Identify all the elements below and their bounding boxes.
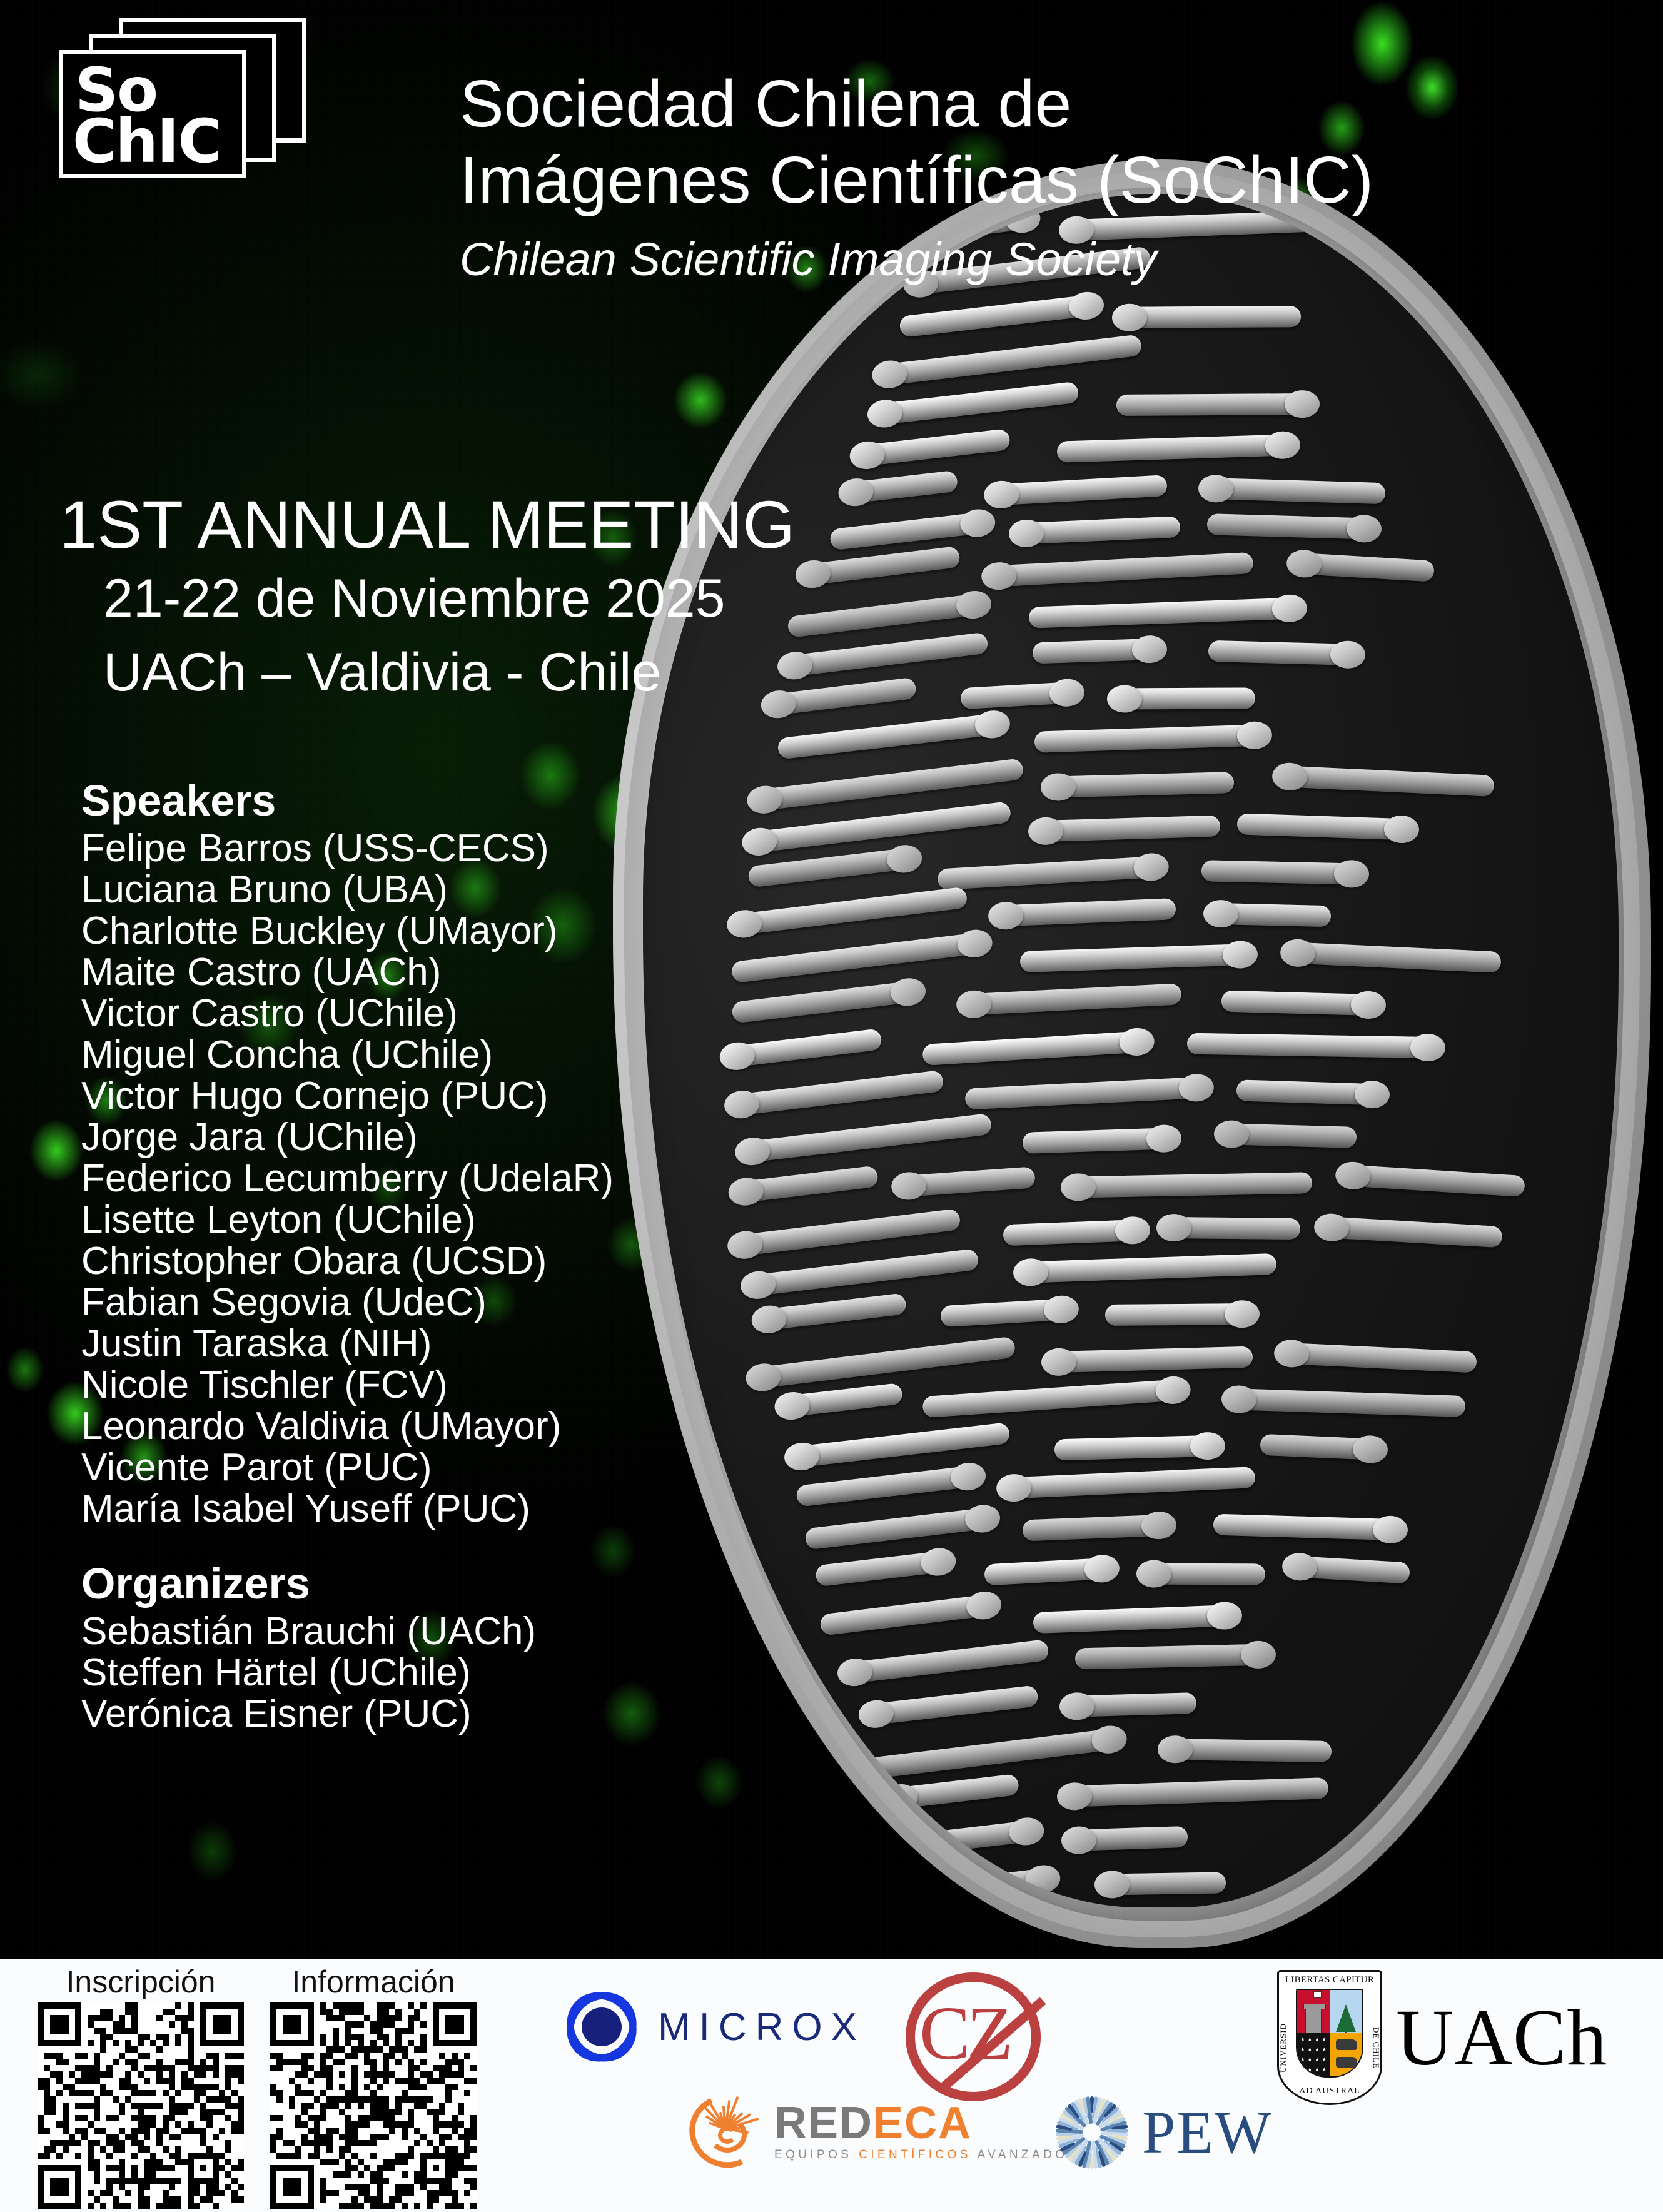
crista-segment bbox=[866, 1728, 1121, 1780]
crista-segment bbox=[1063, 1777, 1328, 1807]
crista-segment bbox=[855, 428, 1011, 467]
crista-segment bbox=[1228, 1388, 1465, 1417]
crista-segment bbox=[804, 1507, 995, 1550]
speaker-item: Federico Lecumberry (UdelaR) bbox=[81, 1158, 707, 1199]
logo-word-chic: ChIC bbox=[73, 111, 221, 171]
organizer-item: Steffen Härtel (UChile) bbox=[81, 1652, 707, 1694]
crest-name-right: DE CHILE bbox=[1370, 2010, 1381, 2085]
crista-segment bbox=[1213, 1513, 1402, 1540]
speaker-item: Charlotte Buckley (UMayor) bbox=[81, 911, 707, 952]
redeca-tag-equipos: EQUIPOS bbox=[774, 2148, 852, 2161]
meeting-info: 1ST ANNUAL MEETING 21-22 de Noviembre 20… bbox=[59, 488, 872, 709]
speaker-item: Jorge Jara (UChile) bbox=[81, 1117, 707, 1158]
crista-segment bbox=[1074, 1644, 1269, 1669]
redeca-tagline: EQUIPOS CIENTÍFICOS AVANZADOS bbox=[774, 2148, 1079, 2163]
society-subtitle: Chilean Scientific Imaging Society bbox=[460, 227, 1635, 292]
crista-segment bbox=[1201, 860, 1363, 885]
qr-inscripcion-image[interactable] bbox=[38, 2002, 244, 2209]
meeting-title: 1ST ANNUAL MEETING bbox=[59, 488, 872, 562]
crista-segment bbox=[962, 983, 1182, 1016]
crest-name-bottom: AD AUSTRAL bbox=[1277, 2086, 1382, 2096]
sponsor-logos: MICROX CZ REDECA EQUIPOS bbox=[550, 1959, 1657, 2212]
society-title-line-2: Imágenes Científicas (SoChIC) bbox=[460, 142, 1635, 218]
crista-segment bbox=[796, 1465, 981, 1508]
speaker-item: Christopher Obara (UCSD) bbox=[81, 1241, 707, 1282]
crista-segment bbox=[1034, 816, 1221, 842]
crista-segment bbox=[1054, 1435, 1219, 1460]
crista-segment bbox=[1320, 1216, 1504, 1248]
speaker-item: Luciana Bruno (UBA) bbox=[81, 869, 707, 911]
crista-segment bbox=[731, 980, 921, 1023]
crista-segment bbox=[732, 886, 968, 936]
poster-root: So ChIC Sociedad Chilena de Imágenes Cie… bbox=[0, 0, 1663, 2212]
crest-quadrant-stars: ★★★★★★★★★★★★★★★★ bbox=[1297, 2033, 1330, 2076]
microx-wordmark: MICROX bbox=[658, 2005, 866, 2049]
crista-segment bbox=[987, 552, 1253, 587]
sponsor-logo-pew[interactable]: PEW bbox=[1051, 2091, 1273, 2174]
crista-segment bbox=[1278, 765, 1494, 797]
crista-segment bbox=[1288, 1556, 1410, 1584]
speaker-item: Lisette Leyton (UChile) bbox=[81, 1199, 707, 1241]
sponsor-logo-microx[interactable]: MICROX bbox=[562, 1989, 866, 2065]
crista-segment bbox=[1187, 1033, 1440, 1058]
society-title-line-1: Sociedad Chilena de bbox=[460, 66, 1635, 142]
crista-segment bbox=[1067, 1173, 1313, 1198]
crista-segment bbox=[777, 712, 1006, 759]
crista-segment bbox=[752, 758, 1024, 811]
crista-segment bbox=[877, 335, 1143, 386]
crista-segment bbox=[730, 1070, 945, 1116]
qr-code-group: InscripciónInformación bbox=[38, 1964, 477, 2209]
crista-segment bbox=[1280, 1343, 1477, 1373]
poster-header: Sociedad Chilena de Imágenes Científicas… bbox=[460, 66, 1635, 292]
poster-footer: InscripciónInformación MICROX CZ bbox=[0, 1959, 1663, 2212]
crista-segment bbox=[1003, 1467, 1256, 1499]
crista-segment bbox=[1116, 393, 1313, 416]
crista-segment bbox=[922, 1379, 1185, 1418]
crista-segment bbox=[740, 1113, 992, 1163]
speaker-item: Fabian Segovia (UdeC) bbox=[81, 1282, 707, 1323]
redeca-word-red: RED bbox=[774, 2098, 873, 2148]
speaker-item: Nicole Tischler (FCV) bbox=[81, 1365, 707, 1406]
crista-segment bbox=[1341, 1164, 1525, 1196]
speaker-item: María Isabel Yuseff (PUC) bbox=[81, 1488, 707, 1530]
speaker-item: Felipe Barros (USS-CECS) bbox=[81, 828, 707, 869]
crest-quadrant-tree bbox=[1330, 1990, 1362, 2033]
crest-quadrant-castle bbox=[1297, 1990, 1330, 2033]
em-structure-image bbox=[613, 159, 1663, 1967]
crista-segment bbox=[1210, 903, 1332, 927]
crista-segment bbox=[1236, 1080, 1384, 1106]
speaker-item: Maite Castro (UACh) bbox=[81, 952, 707, 993]
crista-segment bbox=[1221, 990, 1380, 1016]
sunburst-icon bbox=[1051, 2091, 1133, 2174]
qr-informacion-label: Información bbox=[270, 1964, 477, 2000]
crista-segment bbox=[1032, 638, 1161, 664]
qr-inscripcion[interactable]: Inscripción bbox=[38, 1964, 244, 2209]
crista-segment bbox=[1143, 1563, 1265, 1585]
crista-segment bbox=[790, 1422, 1011, 1468]
crista-segment bbox=[989, 475, 1167, 507]
crista-segment bbox=[746, 1248, 979, 1297]
crista-segment bbox=[1047, 772, 1235, 798]
crista-segment bbox=[1068, 1826, 1188, 1851]
crista-segment bbox=[1020, 944, 1252, 972]
meeting-dates: 21-22 de Noviembre 2025 bbox=[59, 562, 872, 635]
organizer-item: Sebastián Brauchi (UACh) bbox=[81, 1611, 707, 1652]
crest-quadrant-bulls bbox=[1330, 2033, 1362, 2076]
crista-segment bbox=[780, 1383, 903, 1418]
crista-segment bbox=[1260, 1433, 1382, 1460]
shell-spiral-icon bbox=[689, 2095, 764, 2168]
people-section: Speakers Felipe Barros (USS-CECS)Luciana… bbox=[81, 774, 707, 1735]
crista-segment bbox=[1237, 813, 1413, 840]
crest-shield: ★★★★★★★★★★★★★★★★ bbox=[1296, 1989, 1363, 2078]
crista-segment bbox=[1101, 1872, 1226, 1896]
cz-wordmark: CZ bbox=[919, 1994, 1032, 2081]
organizers-heading: Organizers bbox=[81, 1557, 707, 1610]
crista-segment bbox=[730, 932, 987, 983]
crista-segment bbox=[1208, 640, 1359, 665]
crista-segment bbox=[1113, 687, 1255, 709]
crista-segment bbox=[1048, 1346, 1253, 1373]
uach-wordmark: UACh bbox=[1396, 1996, 1607, 2079]
speaker-item: Vicente Parot (PUC) bbox=[81, 1447, 707, 1488]
crista-segment bbox=[922, 1031, 1149, 1066]
crista-segment bbox=[1015, 516, 1181, 545]
crista-segment bbox=[1220, 1123, 1357, 1148]
crista-segment bbox=[864, 1685, 1039, 1725]
qr-inscripcion-label: Inscripción bbox=[38, 1964, 244, 2000]
sochic-logo: So ChIC bbox=[24, 18, 311, 168]
crista-segment bbox=[940, 1298, 1073, 1327]
crista-segment bbox=[1029, 597, 1302, 629]
uach-crest-icon: LIBERTAS CAPITUR ★★★★★★★★★★★★★★★★ bbox=[1277, 1970, 1382, 2105]
speaker-item: Justin Taraska (NIH) bbox=[81, 1323, 707, 1365]
crista-segment bbox=[1056, 434, 1293, 463]
crest-name-left: UNIVERSID bbox=[1278, 2010, 1290, 2085]
crista-segment bbox=[897, 1167, 1036, 1198]
crista-segment bbox=[1164, 1739, 1332, 1762]
crista-segment bbox=[1105, 1303, 1253, 1326]
redeca-tag-cientificos: CIENTÍFICOS bbox=[859, 2148, 971, 2161]
crista-segment bbox=[732, 1208, 961, 1256]
crista-segment bbox=[725, 1028, 883, 1068]
sponsor-logo-cz[interactable]: CZ bbox=[898, 1965, 1048, 2109]
qr-informacion-image[interactable] bbox=[270, 2002, 477, 2209]
crista-segment bbox=[1023, 1128, 1176, 1154]
pew-wordmark: PEW bbox=[1142, 2101, 1273, 2164]
crista-segment bbox=[1286, 942, 1501, 974]
crista-segment bbox=[1019, 1253, 1277, 1283]
sponsor-logo-redeca[interactable]: REDECA EQUIPOS CIENTÍFICOS AVANZADOS bbox=[689, 2095, 1079, 2168]
crista-segment bbox=[960, 682, 1079, 710]
crista-segment bbox=[757, 1293, 907, 1332]
crest-motto: LIBERTAS CAPITUR bbox=[1277, 1975, 1382, 1986]
speaker-item: Leonardo Valdivia (UMayor) bbox=[81, 1406, 707, 1447]
crista-segment bbox=[964, 1077, 1208, 1110]
crista-segment bbox=[815, 1550, 951, 1587]
organizers-block: Organizers Sebastián Brauchi (UACh)Steff… bbox=[81, 1557, 707, 1735]
crista-segment bbox=[819, 1593, 996, 1636]
organizers-list: Sebastián Brauchi (UACh)Steffen Härtel (… bbox=[81, 1611, 707, 1735]
qr-informacion-matrix bbox=[270, 2002, 477, 2209]
crista-segment bbox=[1003, 1220, 1144, 1246]
crista-segment bbox=[751, 1336, 1016, 1389]
crista-segment bbox=[984, 1557, 1114, 1585]
speaker-item: Victor Castro (UChile) bbox=[81, 993, 707, 1034]
organizer-item: Verónica Eisner (PUC) bbox=[81, 1694, 707, 1735]
crista-segment bbox=[938, 856, 1163, 890]
crista-segment bbox=[1118, 306, 1301, 328]
crista-segment bbox=[899, 294, 1098, 338]
meeting-location: UACh – Valdivia - Chile bbox=[59, 635, 872, 709]
crista-segment bbox=[747, 801, 1011, 854]
sponsor-logo-uach[interactable]: LIBERTAS CAPITUR ★★★★★★★★★★★★★★★★ bbox=[1277, 1970, 1607, 2105]
speakers-list: Felipe Barros (USS-CECS)Luciana Bruno (U… bbox=[81, 828, 707, 1530]
crista-segment bbox=[734, 1165, 879, 1203]
qr-informacion[interactable]: Información bbox=[270, 1964, 477, 2209]
speakers-heading: Speakers bbox=[81, 774, 707, 827]
qr-inscripcion-matrix bbox=[38, 2002, 244, 2209]
crista-segment bbox=[842, 1639, 1049, 1684]
logo-wordmark: So ChIC bbox=[68, 54, 238, 174]
crista-segment bbox=[1292, 552, 1435, 582]
crista-segment bbox=[1033, 1605, 1236, 1634]
atom-icon bbox=[562, 1989, 642, 2065]
crista-segment bbox=[888, 1774, 1020, 1810]
speaker-item: Miguel Concha (UChile) bbox=[81, 1034, 707, 1076]
crista-segment bbox=[1204, 477, 1385, 503]
crista-segment bbox=[1065, 1692, 1196, 1717]
crista-segment bbox=[994, 898, 1176, 927]
crista-segment bbox=[1022, 1515, 1170, 1542]
crista-segment bbox=[872, 381, 1079, 426]
speaker-item: Victor Hugo Cornejo (PUC) bbox=[81, 1076, 707, 1117]
crista-segment bbox=[747, 847, 917, 887]
crista-segment bbox=[1163, 1217, 1300, 1240]
crista-segment bbox=[1207, 513, 1376, 540]
redeca-word-eca: ECA bbox=[873, 2098, 972, 2148]
crista-segment bbox=[1034, 724, 1266, 753]
redeca-wordmark: REDECA bbox=[774, 2100, 1079, 2146]
